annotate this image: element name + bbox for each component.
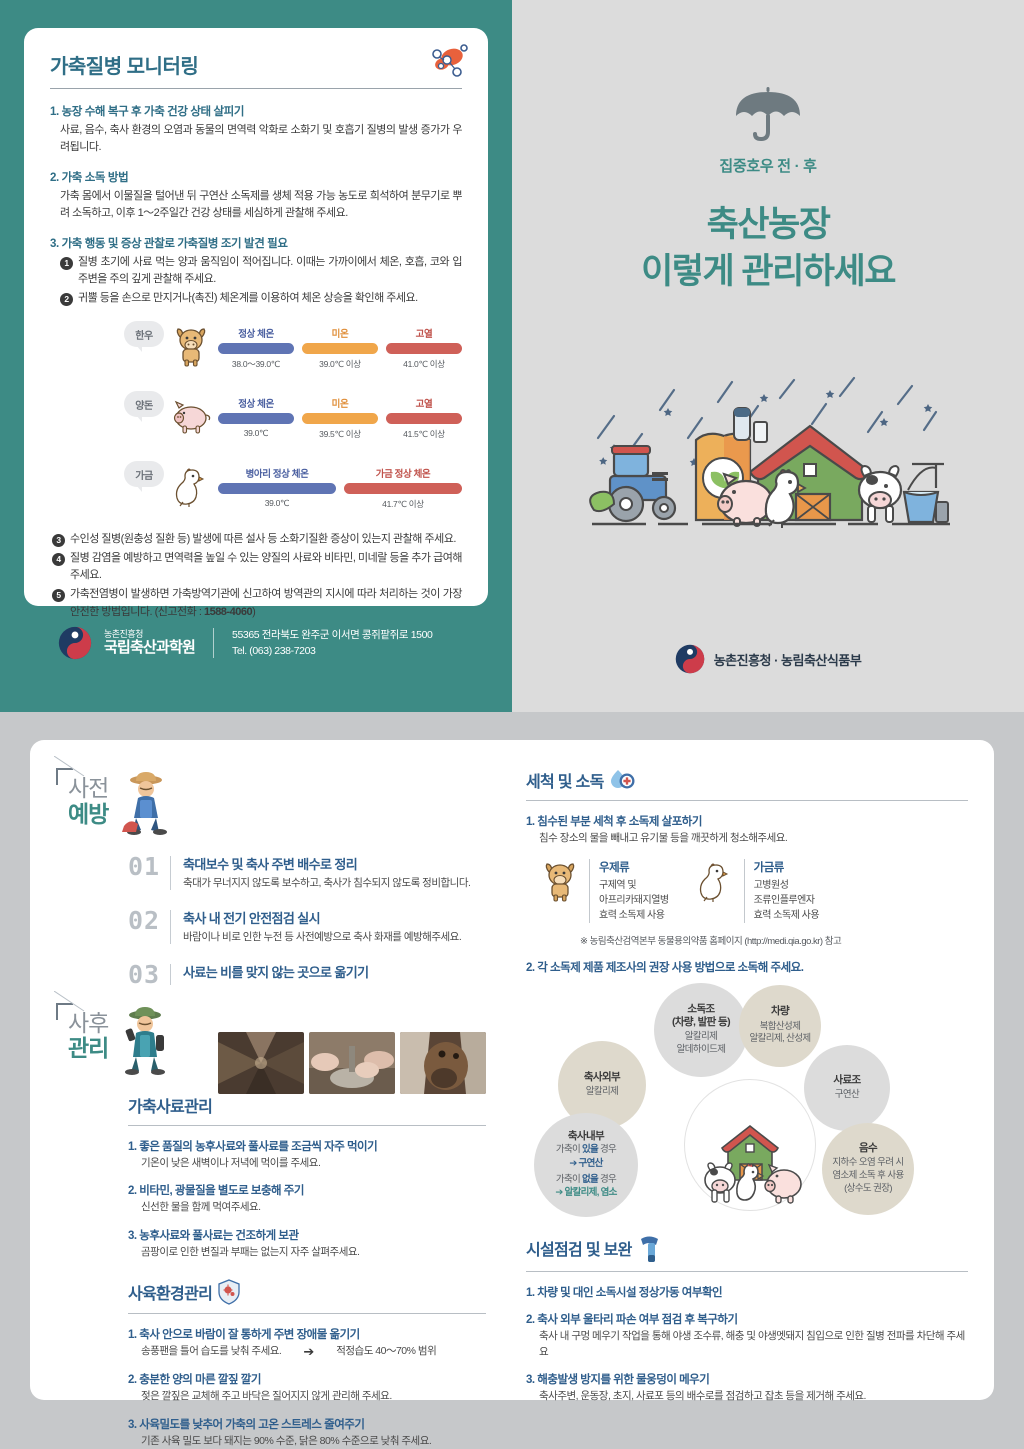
segment-label: 정상 체온 <box>218 396 294 410</box>
list-item: 1. 좋은 품질의 농후사료와 풀사료를 조금씩 자주 먹이기 기온이 낮은 새… <box>128 1138 486 1172</box>
bubble-title: 소독조 <box>687 1003 714 1016</box>
temperature-chart: 한우 <box>50 321 462 515</box>
chicken-icon <box>695 859 735 903</box>
env-title-text: 사육환경관리 <box>128 1280 212 1304</box>
bubble-drinking-water: 음수 지하수 오염 우려 시 염소제 소독 후 사용 (상수도 권장) <box>822 1123 914 1215</box>
segment-value: 41.5℃ 이상 <box>386 428 462 440</box>
footer-address: 55365 전라북도 완주군 이서면 콩쥐팥쥐로 1500 <box>232 627 432 643</box>
disinfectant-bubble-map: 소독조 (차량, 발판 등) 알칼리제 알데하이드제 차량 복합산성제 알칼리제… <box>534 983 964 1215</box>
segment-bar <box>218 343 294 354</box>
hammer-icon <box>638 1233 666 1263</box>
kv-arrow-value: ➔ 구연산 <box>569 1157 602 1170</box>
feed-management-list: 1. 좋은 품질의 농후사료와 풀사료를 조금씩 자주 먹이기 기온이 낮은 새… <box>128 1138 486 1261</box>
bubble-detail: 알칼리제 알데하이드제 <box>677 1031 726 1057</box>
segment-bar <box>218 483 336 494</box>
disinfection-item-1: 1. 침수된 부분 세척 후 소독제 살포하기 침수 장소의 물을 빼내고 유기… <box>526 813 968 847</box>
page-title: 가축질병 모니터링 <box>50 50 462 79</box>
temp-segment: 정상 체온 38.0〜39.0℃ <box>218 326 294 370</box>
disinfection-title-text: 세척 및 소독 <box>526 768 604 792</box>
bubble-kv-line: 가축이 없을 경우 <box>556 1173 616 1186</box>
type-heading: 가금류 <box>754 859 819 875</box>
bubble-title: 음수 <box>859 1142 877 1155</box>
item-body: 축대가 무너지지 않도록 보수하고, 축사가 침수되지 않도록 정비합니다. <box>183 876 470 892</box>
item-heading: 축사 내 전기 안전점검 실시 <box>183 908 461 927</box>
list-item: 2. 충분한 양의 마른 깔짚 깔기 젖은 깔짚은 교체해 주고 바닥은 질어지… <box>128 1371 486 1405</box>
bullet-number: 3 <box>52 534 65 547</box>
bullet-number: 1 <box>60 257 73 270</box>
sub-item-text: 수인성 질병(원충성 질환 등) 발생에 따른 설사 등 소화기질환 증상이 있… <box>70 531 456 548</box>
item-body: 젖은 깔짚은 교체해 주고 바닥은 질어지지 않게 관리해 주세요. <box>128 1389 486 1405</box>
cover-footer: 농촌진흥청 · 농림축산식품부 <box>512 644 1024 674</box>
type-heading: 우제류 <box>599 859 669 875</box>
item-heading: 3. 사육밀도를 낮추어 가축의 고온 스트레스 줄여주기 <box>128 1416 486 1432</box>
org-name-small: 농촌진흥청 <box>104 629 195 640</box>
bubble-detail: 지하수 오염 우려 시 염소제 소독 후 사용 (상수도 권장) <box>832 1157 903 1195</box>
item-body: 축사주변, 운동장, 초지, 사료포 등의 배수로를 점검하고 잡초 등을 제거… <box>526 1389 968 1405</box>
cow-closeup-photo <box>400 1032 486 1094</box>
pig-icon <box>168 398 214 439</box>
disinfection-title: 세척 및 소독 <box>526 768 968 792</box>
item-number: 01 <box>128 854 170 879</box>
segment-label: 병아리 정상 체온 <box>218 466 336 480</box>
prevention-aftercare-column: 사전 예방 01 축대보수 및 축사 <box>30 740 512 1400</box>
temp-row-pig: 양돈 <box>124 391 462 445</box>
env-management-title: 사육환경관리 <box>128 1279 486 1305</box>
bubble-subtitle: (차량, 발판 등) <box>672 1016 730 1029</box>
barn-with-animals-icon <box>692 1102 808 1210</box>
item-body: 침수 장소의 물을 빼내고 유기물 등을 깨끗하게 청소해주세요. <box>526 831 968 847</box>
bubble-feed-trough: 사료조 구연산 <box>804 1045 890 1131</box>
monitoring-item-3: 3. 가축 행동 및 증상 관찰로 가축질병 조기 발견 필요 1 질병 초기에… <box>50 235 462 307</box>
segment-value: 41.7℃ 이상 <box>344 498 462 510</box>
bubble-detail: 복합산성제 알칼리제, 산성제 <box>749 1021 810 1047</box>
monitoring-card: 가축질병 모니터링 1. 농장 수해 복구 후 가축 건강 상태 살피기 사료,… <box>24 28 488 606</box>
segment-label: 미온 <box>302 326 378 340</box>
aftercare-badge: 사후 관리 <box>56 1003 108 1063</box>
item-heading: 3. 해충발생 방지를 위한 물웅덩이 메우기 <box>526 1371 968 1387</box>
feed-management-block: 가축사료관리 1. 좋은 품질의 농후사료와 풀사료를 조금씩 자주 먹이기 기… <box>128 1093 486 1261</box>
prevention-item: 02 축사 내 전기 안전점검 실시 바람이나 비로 인한 누전 등 사전예방으… <box>128 908 486 946</box>
bubble-title: 사료조 <box>833 1074 860 1087</box>
segment-value: 39.0℃ <box>218 498 336 509</box>
emergency-text-post: ) <box>252 606 255 618</box>
bubble-disinfection-tank: 소독조 (차량, 발판 등) 알칼리제 알데하이드제 <box>654 983 748 1077</box>
type-body: 구제역 및 아프리카돼지열병 효력 소독제 사용 <box>599 878 669 923</box>
item-body: 곰팡이로 인한 변질과 부패는 없는지 자주 살펴주세요. <box>128 1245 486 1261</box>
animal-type-cloven: 우제류 구제역 및 아프리카돼지열병 효력 소독제 사용 <box>540 859 669 923</box>
item-body: 바람이나 비로 인한 누전 등 사전예방으로 축사 화재를 예방해주세요. <box>183 930 461 946</box>
temp-bars: 정상 체온 38.0〜39.0℃ 미온 39.0℃ 이상 고열 4 <box>214 326 462 370</box>
animal-type-poultry: 가금류 고병원성 조류인플루엔자 효력 소독제 사용 <box>695 859 819 923</box>
title-divider <box>50 88 462 89</box>
segment-value: 41.0℃ 이상 <box>386 358 462 370</box>
cover-subtitle: 집중호우 전 · 후 <box>512 155 1024 176</box>
korea-government-taegeuk-logo <box>58 626 92 660</box>
temp-segment: 병아리 정상 체온 39.0℃ <box>218 466 336 510</box>
temp-segment: 고열 41.0℃ 이상 <box>386 326 462 370</box>
kv-pre: 가축이 <box>556 1174 582 1185</box>
env-management-list: 1. 축사 안으로 바람이 잘 통하게 주변 장애물 옮기기 송풍팬을 틀어 습… <box>128 1326 486 1449</box>
segment-value: 39.0℃ 이상 <box>302 358 378 370</box>
section-divider <box>128 1125 486 1126</box>
bullet-number: 4 <box>52 553 65 566</box>
org-name-big: 국립축산과학원 <box>104 639 195 657</box>
temp-row-cow: 한우 <box>124 321 462 375</box>
temp-segment: 미온 39.5℃ 이상 <box>302 396 378 440</box>
item-number: 03 <box>128 962 170 987</box>
list-item: 3. 농후사료와 풀사료는 건조하게 보관 곰팡이로 인한 변질과 부패는 없는… <box>128 1227 486 1261</box>
item-heading: 축대보수 및 축사 주변 배수로 정리 <box>183 854 470 873</box>
facility-list: 1. 차량 및 대인 소독시설 정상가동 여부확인 2. 축사 외부 울타리 파… <box>526 1284 968 1405</box>
chicken-icon <box>168 464 214 513</box>
type-body: 고병원성 조류인플루엔자 효력 소독제 사용 <box>754 878 819 923</box>
kv-post: 경우 <box>598 1144 616 1155</box>
animal-tag: 양돈 <box>124 391 164 417</box>
sub-item-text: 질병 감염을 예방하고 면역력을 높일 수 있는 양질의 사료와 비타민, 미네… <box>70 550 462 584</box>
type-divider <box>589 859 590 923</box>
facility-title: 시설점검 및 보완 <box>526 1233 968 1263</box>
cow-icon <box>168 324 214 373</box>
kv-highlight: 있을 <box>582 1144 598 1155</box>
prevention-item: 01 축대보수 및 축사 주변 배수로 정리 축대가 무너지지 않도록 보수하고… <box>128 854 486 892</box>
footer-divider <box>213 628 214 658</box>
korea-government-taegeuk-logo <box>675 644 705 674</box>
kv-pre: 가축이 <box>556 1144 582 1155</box>
water-drop-medical-icon <box>610 768 636 792</box>
item-heading: 1. 축사 안으로 바람이 잘 통하게 주변 장애물 옮기기 <box>128 1326 486 1342</box>
sub-item: 4 질병 감염을 예방하고 면역력을 높일 수 있는 양질의 사료와 비타민, … <box>52 550 462 584</box>
list-item: 1. 차량 및 대인 소독시설 정상가동 여부확인 <box>526 1284 968 1300</box>
prevention-badge-bottom: 예방 <box>68 802 108 828</box>
cow-icon <box>540 859 580 903</box>
segment-value: 38.0〜39.0℃ <box>218 358 294 370</box>
aftercare-badge-top: 사후 <box>68 1011 108 1037</box>
list-item: 2. 비타민, 광물질을 별도로 보충해 주기 신선한 물을 함께 먹여주세요. <box>128 1182 486 1216</box>
footer-tel: Tel. (063) 238-7203 <box>232 643 432 659</box>
cover-title-line1: 축산농장 <box>512 202 1024 249</box>
monitoring-item-2: 2. 가축 소독 방법 가축 몸에서 이물질을 털어낸 뒤 구연산 소독제를 생… <box>50 169 462 222</box>
animal-tag: 한우 <box>124 321 164 347</box>
segment-bar <box>302 343 378 354</box>
bubble-kv-line: 가축이 있을 경우 <box>556 1143 616 1156</box>
segment-bar <box>344 483 462 494</box>
item-heading: 3. 농후사료와 풀사료는 건조하게 보관 <box>128 1227 486 1243</box>
list-item: 3. 해충발생 방지를 위한 물웅덩이 메우기 축사주변, 운동장, 초지, 사… <box>526 1371 968 1405</box>
item-number: 02 <box>128 908 170 933</box>
segment-value: 39.5℃ 이상 <box>302 428 378 440</box>
bubble-barn-interior: 축사내부 가축이 있을 경우 ➔ 구연산 가축이 없을 경우 ➔ 알칼리제, 염… <box>534 1113 638 1217</box>
bullet-number: 2 <box>60 293 73 306</box>
temp-bars: 정상 체온 39.0℃ 미온 39.5℃ 이상 고열 41.5℃ <box>214 396 462 440</box>
kv-highlight: 없을 <box>582 1174 598 1185</box>
segment-label: 정상 체온 <box>218 326 294 340</box>
item-divider <box>170 964 171 985</box>
prevention-badge: 사전 예방 <box>56 768 108 828</box>
shield-virus-icon <box>218 1279 240 1305</box>
poultry-house-photo <box>218 1032 304 1094</box>
segment-bar <box>218 413 294 424</box>
aftercare-badge-bottom: 관리 <box>68 1036 108 1062</box>
cover-footer-text: 농촌진흥청 · 농림축산식품부 <box>714 650 862 669</box>
item-body: 송풍팬을 틀어 습도를 낮춰 주세요. <box>141 1344 281 1360</box>
list-item: 2. 축사 외부 울타리 파손 여부 점검 후 복구하기 축사 내 구멍 메우기… <box>526 1311 968 1361</box>
diagonal-line-decor <box>54 756 96 778</box>
item-heading: 사료는 비를 맞지 않는 곳으로 옮기기 <box>183 962 368 981</box>
item-divider <box>170 856 171 890</box>
farm-scene-illustration <box>568 368 968 568</box>
monitoring-sub-list-2: 3 수인성 질병(원충성 질환 등) 발생에 따른 설사 등 소화기질환 증상이… <box>50 531 462 620</box>
sub-item-text: 귀뿔 등을 손으로 만지거나(촉진) 체온계를 이용하여 체온 상승을 확인해 … <box>78 290 418 307</box>
segment-value: 39.0℃ <box>218 428 294 439</box>
prevention-item: 03 사료는 비를 맞지 않는 곳으로 옮기기 <box>128 962 486 987</box>
bubble-title: 차량 <box>771 1005 789 1018</box>
temp-segment: 미온 39.0℃ 이상 <box>302 326 378 370</box>
item-heading: 2. 가축 소독 방법 <box>50 169 462 185</box>
item-body: 기존 사육 밀도 보다 돼지는 90% 수준, 닭은 80% 수준으로 낮춰 주… <box>128 1434 486 1449</box>
org-name: 농촌진흥청 국립축산과학원 <box>104 629 195 658</box>
facility-block: 시설점검 및 보완 1. 차량 및 대인 소독시설 정상가동 여부확인 2. 축… <box>526 1233 968 1405</box>
molecule-icon <box>426 42 470 80</box>
footer-contact: 55365 전라북도 완주군 이서면 콩쥐팥쥐로 1500 Tel. (063)… <box>232 627 432 660</box>
temp-segment: 정상 체온 39.0℃ <box>218 396 294 440</box>
kv-post: 경우 <box>598 1174 616 1185</box>
prevention-list: 01 축대보수 및 축사 주변 배수로 정리 축대가 무너지지 않도록 보수하고… <box>128 854 486 987</box>
bubble-vehicle: 차량 복합산성제 알칼리제, 산성제 <box>739 985 821 1067</box>
prevention-badge-top: 사전 <box>68 776 108 802</box>
item-heading: 2. 비타민, 광물질을 별도로 보충해 주기 <box>128 1182 486 1198</box>
disinfection-item-2-heading: 2. 각 소독제 제품 제조사의 권장 사용 방법으로 소독해 주세요. <box>526 959 968 975</box>
bubble-detail: 알칼리제 <box>586 1086 619 1099</box>
center-ring <box>684 1079 816 1211</box>
env-management-block: 사육환경관리 1. 축사 안으로 바람이 잘 통하게 주변 장애물 옮기기 <box>128 1279 486 1449</box>
bottom-spread: 사전 예방 01 축대보수 및 축사 <box>30 740 994 1400</box>
item-heading: 3. 가축 행동 및 증상 관찰로 가축질병 조기 발견 필요 <box>50 235 462 251</box>
emergency-phone-number: 1588-4060 <box>204 606 252 618</box>
feed-management-title: 가축사료관리 <box>128 1093 486 1117</box>
segment-bar <box>386 343 462 354</box>
humidity-row: 송풍팬을 틀어 습도를 낮춰 주세요. ➔ 적정습도 40〜70% 범위 <box>128 1344 486 1360</box>
sub-item-text: 가축전염병이 발생하면 가축방역기관에 신고하여 방역관의 지시에 따라 처리하… <box>70 586 462 620</box>
bubble-title: 축사외부 <box>584 1071 620 1084</box>
section-divider <box>526 1271 968 1272</box>
pig-feeder-photo <box>309 1032 395 1094</box>
temp-row-poultry: 가금 병아리 정상 체온 <box>124 461 462 515</box>
farmer-with-sandbag-icon <box>116 770 176 836</box>
diagonal-line-decor <box>54 991 96 1013</box>
list-item: 1. 축사 안으로 바람이 잘 통하게 주변 장애물 옮기기 송풍팬을 틀어 습… <box>128 1326 486 1360</box>
monitoring-page: 가축질병 모니터링 1. 농장 수해 복구 후 가축 건강 상태 살피기 사료,… <box>0 0 512 712</box>
item-body: 축사 내 구멍 메우기 작업을 통해 야생 조수류, 해충 및 야생멧돼지 침입… <box>526 1329 968 1361</box>
item-body: 가축 몸에서 이물질을 털어낸 뒤 구연산 소독제를 생체 적용 가능 농도로 … <box>50 188 462 222</box>
cover-title-line2: 이렇게 관리하세요 <box>512 249 1024 296</box>
item-heading: 1. 침수된 부분 세척 후 소독제 살포하기 <box>526 813 968 829</box>
photo-strip <box>218 1032 486 1094</box>
item-divider <box>170 910 171 944</box>
type-divider <box>744 859 745 923</box>
item-heading: 2. 충분한 양의 마른 깔짚 깔기 <box>128 1371 486 1387</box>
temp-segment: 가금 정상 체온 41.7℃ 이상 <box>344 466 462 510</box>
section-divider <box>526 800 968 801</box>
bullet-number: 5 <box>52 589 65 602</box>
segment-bar <box>386 413 462 424</box>
segment-bar <box>302 413 378 424</box>
humidity-range: 적정습도 40〜70% 범위 <box>336 1344 436 1360</box>
item-body: 기온이 낮은 새벽이나 저녁에 먹이를 주세요. <box>128 1156 486 1172</box>
animal-type-group: 우제류 구제역 및 아프리카돼지열병 효력 소독제 사용 가금류 고병원성 조류… <box>540 859 968 923</box>
reference-note: ※ 농림축산검역본부 동물용의약품 홈페이지 (http://medi.qia.… <box>580 933 968 947</box>
sub-item: 3 수인성 질병(원충성 질환 등) 발생에 따른 설사 등 소화기질환 증상이… <box>52 531 462 548</box>
segment-label: 고열 <box>386 326 462 340</box>
section-divider <box>128 1313 486 1314</box>
top-spread: 가축질병 모니터링 1. 농장 수해 복구 후 가축 건강 상태 살피기 사료,… <box>0 0 1024 712</box>
monitoring-item-1: 1. 농장 수해 복구 후 가축 건강 상태 살피기 사료, 음수, 축사 환경… <box>50 103 462 156</box>
sub-item-text: 질병 초기에 사료 먹는 양과 움직임이 적어집니다. 이때는 가까이에서 체온… <box>78 254 462 288</box>
temp-segment: 고열 41.5℃ 이상 <box>386 396 462 440</box>
prevention-section: 사전 예방 <box>56 768 486 836</box>
facility-title-text: 시설점검 및 보완 <box>526 1236 632 1260</box>
item-heading: 1. 농장 수해 복구 후 가축 건강 상태 살피기 <box>50 103 462 119</box>
cover-page: 집중호우 전 · 후 축산농장 이렇게 관리하세요 <box>512 0 1024 712</box>
cover-title: 축산농장 이렇게 관리하세요 <box>512 202 1024 296</box>
kv-arrow-value: ➔ 알칼리제, 염소 <box>555 1186 616 1199</box>
sub-item: 1 질병 초기에 사료 먹는 양과 움직임이 적어집니다. 이때는 가까이에서 … <box>60 254 462 288</box>
animal-tag: 가금 <box>124 461 164 487</box>
item-body: 사료, 음수, 축사 환경의 오염과 동물의 면역력 악화로 소화기 및 호흡기… <box>50 122 462 156</box>
disinfection-facility-column: 세척 및 소독 1. 침수된 부분 세척 후 소독제 살포하기 침수 장소의 물… <box>512 740 994 1400</box>
farmer-with-spray-icon <box>116 1003 174 1075</box>
umbrella-icon <box>732 86 804 144</box>
bubble-detail: 구연산 <box>835 1089 859 1102</box>
sub-list: 1 질병 초기에 사료 먹는 양과 움직임이 적어집니다. 이때는 가까이에서 … <box>50 254 462 307</box>
arrow-icon: ➔ <box>303 1344 314 1360</box>
segment-label: 미온 <box>302 396 378 410</box>
list-item: 3. 사육밀도를 낮추어 가축의 고온 스트레스 줄여주기 기존 사육 밀도 보… <box>128 1416 486 1449</box>
bubble-title: 축사내부 <box>568 1130 604 1143</box>
sub-item-emergency: 5 가축전염병이 발생하면 가축방역기관에 신고하여 방역관의 지시에 따라 처… <box>52 586 462 620</box>
emergency-text-pre: 가축전염병이 발생하면 가축방역기관에 신고하여 방역관의 지시에 따라 처리하… <box>70 588 462 617</box>
item-heading: 1. 차량 및 대인 소독시설 정상가동 여부확인 <box>526 1284 968 1300</box>
segment-label: 가금 정상 체온 <box>344 466 462 480</box>
item-heading: 1. 좋은 품질의 농후사료와 풀사료를 조금씩 자주 먹이기 <box>128 1138 486 1154</box>
segment-label: 고열 <box>386 396 462 410</box>
item-body: 신선한 물을 함께 먹여주세요. <box>128 1200 486 1216</box>
item-heading: 2. 축사 외부 울타리 파손 여부 점검 후 복구하기 <box>526 1311 968 1327</box>
temp-bars: 병아리 정상 체온 39.0℃ 가금 정상 체온 41.7℃ 이상 <box>214 466 462 510</box>
sub-item: 2 귀뿔 등을 손으로 만지거나(촉진) 체온계를 이용하여 체온 상승을 확인… <box>60 290 462 307</box>
